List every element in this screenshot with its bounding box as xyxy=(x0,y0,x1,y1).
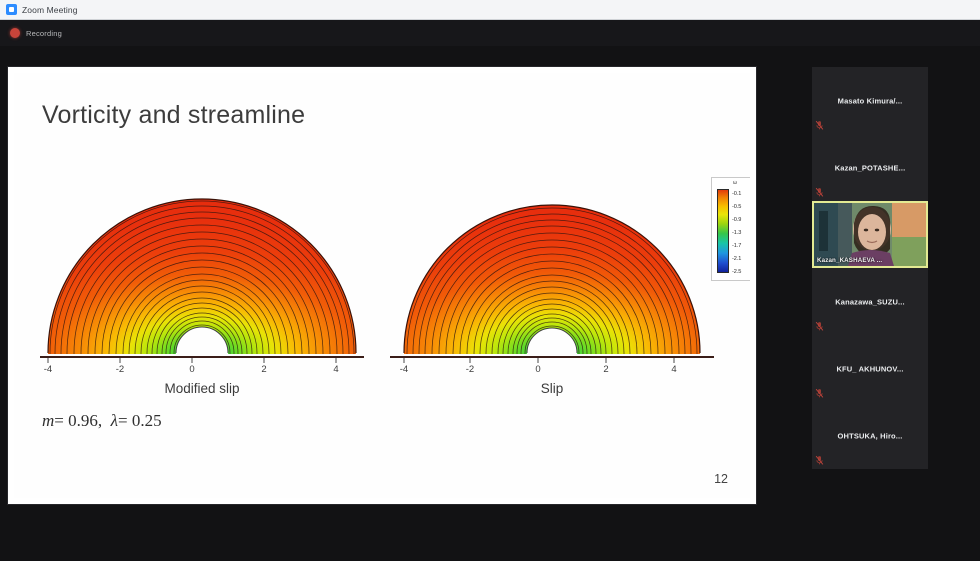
plot-slip: -4 -2 0 2 4 Slip xyxy=(382,181,722,373)
x-tick-label: -4 xyxy=(44,364,52,375)
slide-formula: m= 0.96, λ= 0.25 xyxy=(42,411,162,431)
participant-tile-0[interactable]: Masato Kimura/... xyxy=(812,67,928,134)
x-tick-label: 2 xyxy=(261,364,266,375)
formula-m-value: = 0.96, xyxy=(54,411,102,430)
x-tick-label: -2 xyxy=(466,364,474,375)
x-tick-label: 0 xyxy=(535,364,540,375)
x-ticks-right: -4 -2 0 2 4 xyxy=(390,358,714,380)
window-title: Zoom Meeting xyxy=(22,5,78,15)
x-tick-label: 2 xyxy=(603,364,608,375)
x-tick-label: -2 xyxy=(116,364,124,375)
participant-name: Kanazawa_SUZU... xyxy=(812,297,928,306)
colorbar-tick-label: -0.5 xyxy=(732,204,741,210)
colorbar-ticks: -0.1 -0.5 -0.9 -1.3 -1.7 -2.1 -2.5 xyxy=(732,187,750,277)
colorbar-gradient xyxy=(717,189,729,273)
x-tick-label: 4 xyxy=(333,364,338,375)
mic-muted-icon xyxy=(815,321,824,332)
colorbar-legend: ω -0.1 -0.5 -0.9 -1.3 -1.7 -2.1 -2.5 xyxy=(711,177,750,281)
colorbar-tick-label: -2.1 xyxy=(732,256,741,262)
participant-name: Masato Kimura/... xyxy=(812,96,928,105)
mic-muted-icon xyxy=(815,187,824,198)
plot-modified-slip: -4 -2 0 2 4 Modified slip xyxy=(32,181,372,373)
formula-lambda-symbol: λ xyxy=(111,411,118,430)
x-tick-label: 0 xyxy=(189,364,194,375)
participant-name: OHTSUKA, Hiro... xyxy=(812,431,928,440)
recording-bar: Recording xyxy=(0,20,980,46)
formula-m-symbol: m xyxy=(42,411,54,430)
participant-name: Kazan_KASHAEVA ... xyxy=(814,257,926,264)
participant-tile-3[interactable]: Kanazawa_SUZU... xyxy=(812,268,928,335)
participant-tile-1[interactable]: Kazan_POTASHE... xyxy=(812,134,928,201)
participant-rail: Masato Kimura/... Kazan_POTASHE... xyxy=(812,67,928,504)
x-ticks-left: -4 -2 0 2 4 xyxy=(40,358,364,380)
shared-screen-area[interactable]: Vorticity and streamline xyxy=(8,67,756,504)
participant-name: Kazan_POTASHE... xyxy=(812,163,928,172)
colorbar-tick-label: -0.9 xyxy=(732,217,741,223)
x-tick-label: -4 xyxy=(400,364,408,375)
participant-tile-5[interactable]: OHTSUKA, Hiro... xyxy=(812,402,928,469)
colorbar-tick-label: -1.3 xyxy=(732,230,741,236)
slide-title: Vorticity and streamline xyxy=(42,101,305,130)
zoom-meeting-window: Zoom Meeting Recording Vorticity and str… xyxy=(0,0,980,561)
mic-muted-icon xyxy=(815,388,824,399)
meeting-stage: Vorticity and streamline xyxy=(0,46,980,561)
mic-muted-icon xyxy=(815,455,824,466)
participant-name: KFU_ AKHUNOV... xyxy=(812,364,928,373)
presentation-slide: Vorticity and streamline xyxy=(14,73,750,498)
participant-tile-4[interactable]: KFU_ AKHUNOV... xyxy=(812,335,928,402)
colorbar-tick-label: -1.7 xyxy=(732,243,741,249)
plot-canvas-left xyxy=(32,181,372,359)
record-dot-icon xyxy=(10,28,20,38)
slide-page-number: 12 xyxy=(714,472,728,486)
zoom-camera-icon xyxy=(6,4,17,15)
colorbar-tick-label: -0.1 xyxy=(732,191,741,197)
mic-muted-icon xyxy=(815,120,824,131)
plot-canvas-right xyxy=(382,181,722,359)
colorbar-tick-label: -2.5 xyxy=(732,269,741,275)
plot-caption-right: Slip xyxy=(382,381,722,396)
plot-caption-left: Modified slip xyxy=(32,381,372,396)
colorbar-title: ω xyxy=(712,180,750,186)
participant-tile-2-active-speaker[interactable]: Kazan_KASHAEVA ... xyxy=(812,201,928,268)
recording-label: Recording xyxy=(26,29,62,38)
x-tick-label: 4 xyxy=(671,364,676,375)
formula-lambda-value: = 0.25 xyxy=(118,411,162,430)
window-titlebar: Zoom Meeting xyxy=(0,0,980,20)
